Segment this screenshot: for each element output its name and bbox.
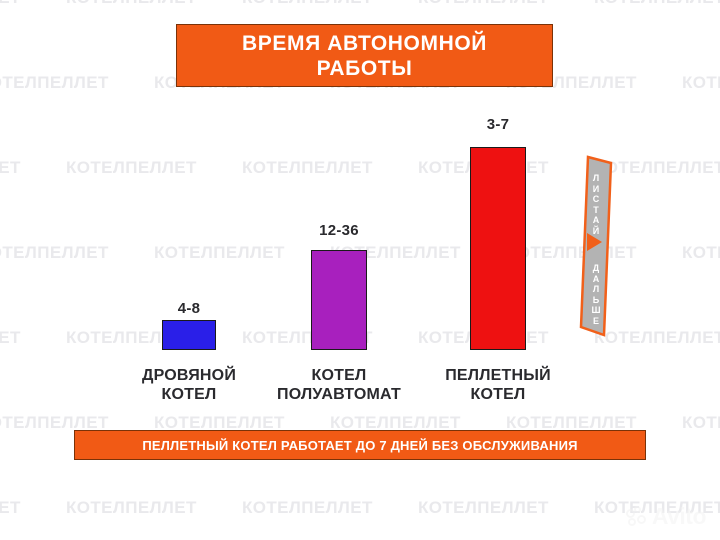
- infographic-canvas: КОТЕЛПЕЛЛЕТКОТЕЛПЕЛЛЕТКОТЕЛПЕЛЛЕТКОТЕЛПЕ…: [0, 0, 720, 540]
- watermark-text: КОТЕЛПЕЛЛЕТ: [242, 498, 373, 518]
- play-triangle-right-icon: [587, 233, 602, 251]
- avito-wordmark: Avito: [652, 505, 706, 528]
- footer-banner: ПЕЛЛЕТНЫЙ КОТЕЛ РАБОТАЕТ ДО 7 ДНЕЙ БЕЗ О…: [74, 430, 646, 460]
- watermark-text: КОТЕЛПЕЛЛЕТ: [0, 498, 21, 518]
- swipe-banner-letter: Л: [581, 284, 611, 295]
- bar-value-number-3: 3-7: [418, 117, 578, 133]
- bar-caption-3: ПЕЛЛЕТНЫЙ КОТЕЛ: [398, 366, 598, 404]
- watermark-text: КОТЕЛПЕЛЛЕТ: [594, 498, 720, 518]
- bar-rect-3: [470, 147, 526, 350]
- swipe-banner-word-bottom: ДАЛЬШЕ: [581, 263, 611, 326]
- swipe-banner-letter: С: [581, 194, 611, 205]
- swipe-banner-letter: А: [581, 215, 611, 226]
- swipe-banner-letter: Е: [581, 316, 611, 327]
- swipe-banner-letter: Т: [581, 205, 611, 216]
- swipe-banner-letter: Д: [581, 263, 611, 274]
- bar-value-number-1: 4-8: [109, 301, 269, 317]
- watermark-text: КОТЕЛПЕЛЛЕТ: [418, 498, 549, 518]
- swipe-banner-letter: И: [581, 184, 611, 195]
- swipe-banner-word-top: ЛИСТАЙ: [581, 173, 611, 236]
- swipe-next-banner[interactable]: ЛИСТАЙ ДАЛЬШЕ: [581, 157, 611, 335]
- title-banner: ВРЕМЯ АВТОНОМНОЙ РАБОТЫ: [176, 24, 553, 87]
- page-title: ВРЕМЯ АВТОНОМНОЙ РАБОТЫ: [242, 31, 487, 81]
- bar-rect-2: [311, 250, 367, 350]
- avito-watermark: Avito: [626, 505, 706, 528]
- avito-dots-icon: [626, 506, 648, 528]
- swipe-banner-letter: Ш: [581, 305, 611, 316]
- swipe-banner-letter: А: [581, 274, 611, 285]
- footer-banner-text: ПЕЛЛЕТНЫЙ КОТЕЛ РАБОТАЕТ ДО 7 ДНЕЙ БЕЗ О…: [142, 438, 577, 453]
- swipe-banner-letter: Л: [581, 173, 611, 184]
- swipe-banner-letter: Ь: [581, 295, 611, 306]
- bar-rect-1: [162, 320, 216, 350]
- watermark-text: КОТЕЛПЕЛЛЕТ: [66, 498, 197, 518]
- bar-value-number-2: 12-36: [259, 223, 419, 239]
